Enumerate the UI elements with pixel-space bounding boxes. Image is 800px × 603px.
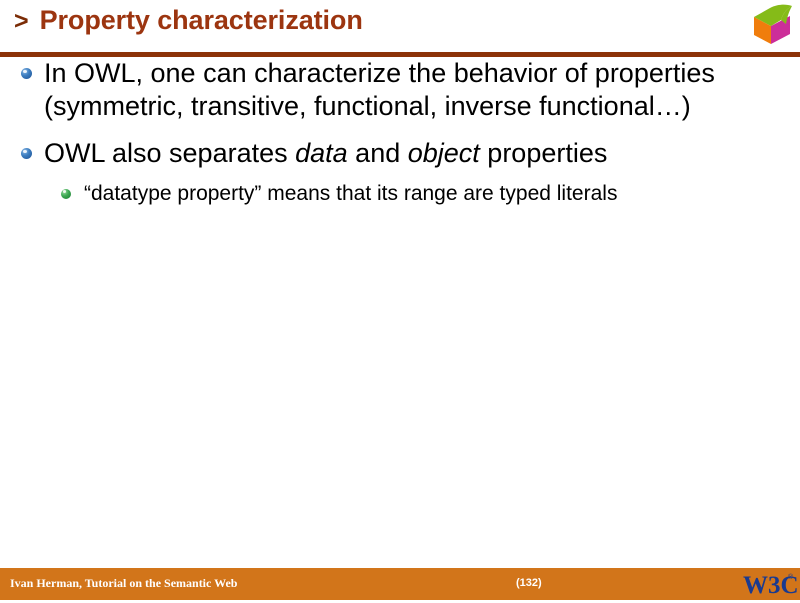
blue-sphere-bullet-icon bbox=[21, 68, 32, 79]
footer-author-text: Ivan Herman, Tutorial on the Semantic We… bbox=[10, 576, 237, 591]
sub-list-item-text: “datatype property” means that its range… bbox=[84, 182, 617, 205]
list-item-emphasis-data: data bbox=[295, 138, 348, 168]
footer-page-number: (132) bbox=[516, 577, 542, 589]
blue-sphere-bullet-icon bbox=[21, 148, 32, 159]
w3c-registered-mark: ® bbox=[788, 573, 794, 581]
list-item-text-segment: properties bbox=[480, 138, 608, 168]
w3c-logo-icon: W3C ® bbox=[743, 570, 797, 598]
list-item: In OWL, one can characterize the behavio… bbox=[0, 57, 800, 123]
list-item: OWL also separates data and object prope… bbox=[0, 137, 800, 170]
slide-body: In OWL, one can characterize the behavio… bbox=[0, 57, 800, 565]
list-item-text: In OWL, one can characterize the behavio… bbox=[44, 58, 715, 121]
slide-footer: Ivan Herman, Tutorial on the Semantic We… bbox=[0, 568, 800, 600]
page-title: > Property characterization bbox=[14, 7, 363, 34]
cube-logo-icon bbox=[750, 2, 796, 46]
sub-list-item: “datatype property” means that its range… bbox=[0, 180, 800, 207]
list-item-text-segment: and bbox=[348, 138, 408, 168]
title-marker-icon: > bbox=[14, 9, 29, 34]
list-item-emphasis-object: object bbox=[408, 138, 480, 168]
page-title-text: Property characterization bbox=[40, 7, 363, 34]
list-item-text-segment: OWL also separates bbox=[44, 138, 295, 168]
slide-canvas: > Property characterization In OWL, one … bbox=[0, 0, 800, 600]
slide-header: > Property characterization bbox=[0, 0, 800, 57]
green-sphere-bullet-icon bbox=[61, 189, 71, 199]
